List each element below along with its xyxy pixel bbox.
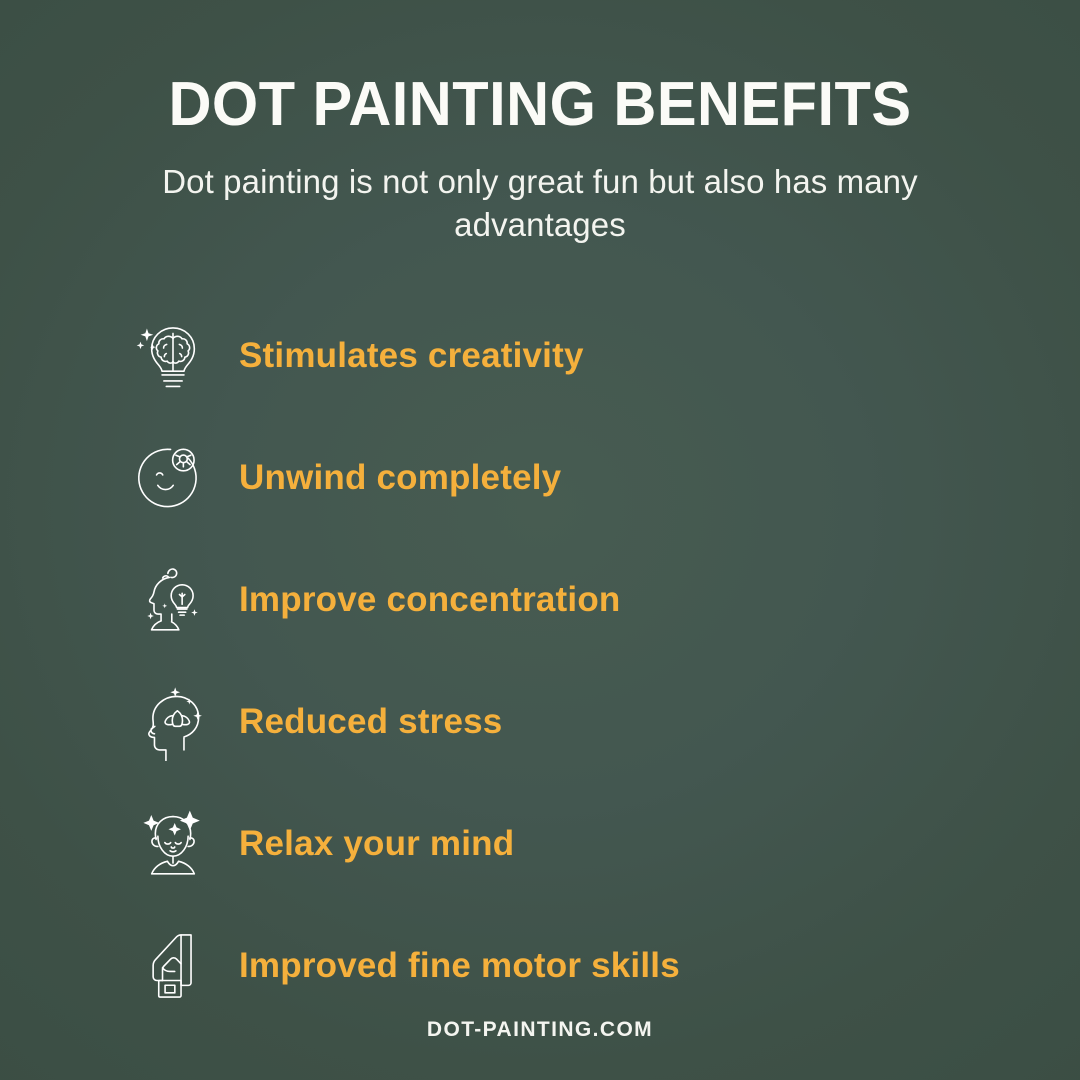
list-item: Relax your mind — [133, 783, 1080, 905]
page-subtitle: Dot painting is not only great fun but a… — [155, 161, 925, 247]
poster: DOT PAINTING BENEFITS Dot painting is no… — [0, 0, 1080, 1080]
benefit-label: Reduced stress — [239, 702, 502, 742]
head-profile-lightbulb-icon — [133, 560, 213, 640]
poster-header: DOT PAINTING BENEFITS Dot painting is no… — [0, 0, 1080, 247]
website-url: DOT-PAINTING.COM — [427, 1018, 653, 1041]
benefit-label: Improve concentration — [239, 580, 621, 620]
list-item: Unwind completely — [133, 417, 1080, 539]
smiling-face-flower-icon — [133, 438, 213, 518]
head-profile-lotus-icon — [133, 682, 213, 762]
benefits-list: Stimulates creativity Unwind complet — [0, 295, 1080, 1027]
list-item: Improved fine motor skills — [133, 905, 1080, 1027]
list-item: Improve concentration — [133, 539, 1080, 661]
hand-holding-dotting-tool-icon — [133, 926, 213, 1006]
benefit-label: Unwind completely — [239, 458, 561, 498]
list-item: Reduced stress — [133, 661, 1080, 783]
lightbulb-brain-icon — [133, 316, 213, 396]
poster-footer: DOT-PAINTING.COM — [0, 1018, 1080, 1042]
relaxed-face-sparkles-icon — [133, 804, 213, 884]
benefit-label: Improved fine motor skills — [239, 946, 680, 986]
page-title: DOT PAINTING BENEFITS — [22, 72, 1059, 137]
benefit-label: Relax your mind — [239, 824, 514, 864]
benefit-label: Stimulates creativity — [239, 336, 584, 376]
list-item: Stimulates creativity — [133, 295, 1080, 417]
